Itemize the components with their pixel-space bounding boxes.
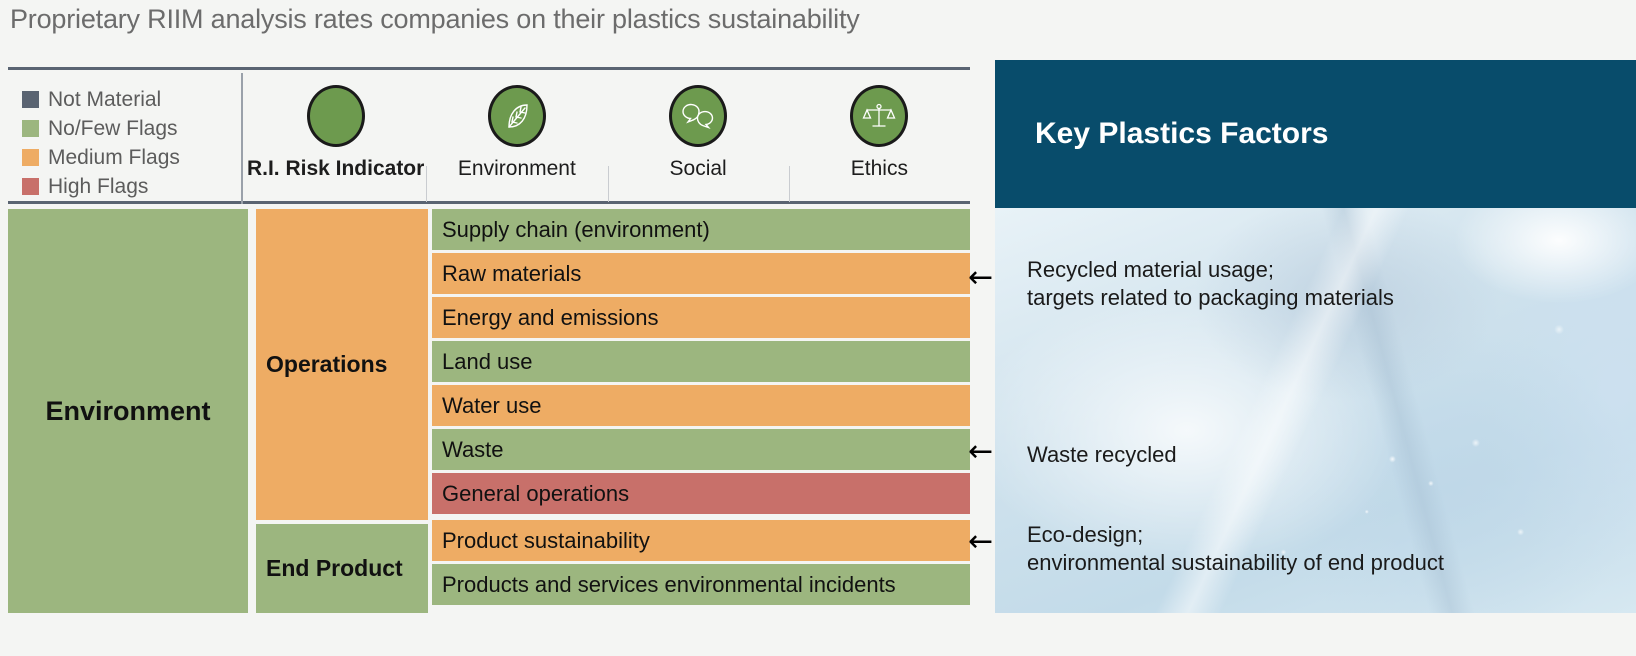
indicator-label-environment: Environment xyxy=(458,157,576,181)
panel-header: Key Plastics Factors xyxy=(995,60,1636,208)
key-plastics-panel: Key Plastics Factors Recycled material u… xyxy=(995,60,1636,613)
row-label: Waste xyxy=(442,437,504,463)
legend-label-not-material: Not Material xyxy=(48,88,161,112)
table-row[interactable]: Land use xyxy=(432,341,970,382)
table-row[interactable]: Waste xyxy=(432,429,970,470)
legend-item-medium-flags: Medium Flags xyxy=(22,143,241,172)
indicator-label-ethics: Ethics xyxy=(851,157,908,181)
row-label: Products and services environmental inci… xyxy=(442,572,896,598)
speech-bubbles-icon xyxy=(669,85,727,147)
legend-swatch-high-flags xyxy=(22,178,39,195)
annotation-eco-design: Eco-design; environmental sustainability… xyxy=(1027,521,1444,577)
risk-matrix: Environment Operations End Product Suppl… xyxy=(8,209,970,613)
row-label: Product sustainability xyxy=(442,528,650,554)
table-row[interactable]: Product sustainability xyxy=(432,520,970,561)
top-band: Not Material No/Few Flags Medium Flags H… xyxy=(8,67,970,204)
table-row[interactable]: Energy and emissions xyxy=(432,297,970,338)
leaf-icon xyxy=(488,85,546,147)
theme-label-operations: Operations xyxy=(266,351,387,378)
table-row[interactable]: Supply chain (environment) xyxy=(432,209,970,250)
row-label: Raw materials xyxy=(442,261,581,287)
indicator-label-social: Social xyxy=(670,157,727,181)
row-label: Water use xyxy=(442,393,541,419)
table-row[interactable]: Products and services environmental inci… xyxy=(432,564,970,605)
annotation-waste-recycled: Waste recycled xyxy=(1027,441,1177,469)
pillar-cell-environment[interactable]: Environment xyxy=(8,209,248,613)
legend: Not Material No/Few Flags Medium Flags H… xyxy=(8,73,243,204)
theme-column: Operations End Product xyxy=(256,209,428,613)
table-row[interactable]: General operations xyxy=(432,473,970,514)
legend-item-high-flags: High Flags xyxy=(22,172,241,201)
row-column: Supply chain (environment) Raw materials… xyxy=(432,209,970,613)
legend-swatch-not-material xyxy=(22,91,39,108)
indicator-strip: R.I. Risk Indicator Environment xyxy=(245,73,970,204)
legend-swatch-medium-flags xyxy=(22,149,39,166)
balance-scales-icon xyxy=(850,85,908,147)
indicator-risk-indicator[interactable]: R.I. Risk Indicator xyxy=(245,73,426,204)
table-row[interactable]: Raw materials xyxy=(432,253,970,294)
legend-item-no-few-flags: No/Few Flags xyxy=(22,114,241,143)
row-label: Energy and emissions xyxy=(442,305,658,331)
row-label: Land use xyxy=(442,349,533,375)
legend-label-medium-flags: Medium Flags xyxy=(48,146,180,170)
row-label: General operations xyxy=(442,481,629,507)
pillar-label: Environment xyxy=(45,396,210,427)
table-row[interactable]: Water use xyxy=(432,385,970,426)
legend-label-high-flags: High Flags xyxy=(48,175,148,199)
panel-body: Recycled material usage; targets related… xyxy=(995,208,1636,613)
legend-item-not-material: Not Material xyxy=(22,85,241,114)
theme-label-end-product: End Product xyxy=(266,555,403,582)
filled-circle-icon xyxy=(307,85,365,147)
indicator-social[interactable]: Social xyxy=(608,73,789,204)
page-title: Proprietary RIIM analysis rates companie… xyxy=(10,4,860,35)
indicator-label-risk-indicator: R.I. Risk Indicator xyxy=(247,157,424,181)
panel-title: Key Plastics Factors xyxy=(1035,117,1328,151)
row-label: Supply chain (environment) xyxy=(442,217,710,243)
legend-swatch-no-few-flags xyxy=(22,120,39,137)
theme-cell-operations[interactable]: Operations xyxy=(256,209,428,520)
indicator-environment[interactable]: Environment xyxy=(426,73,607,204)
indicator-ethics[interactable]: Ethics xyxy=(789,73,970,204)
legend-label-no-few-flags: No/Few Flags xyxy=(48,117,178,141)
annotation-recycled-material: Recycled material usage; targets related… xyxy=(1027,256,1394,312)
theme-cell-end-product[interactable]: End Product xyxy=(256,524,428,613)
